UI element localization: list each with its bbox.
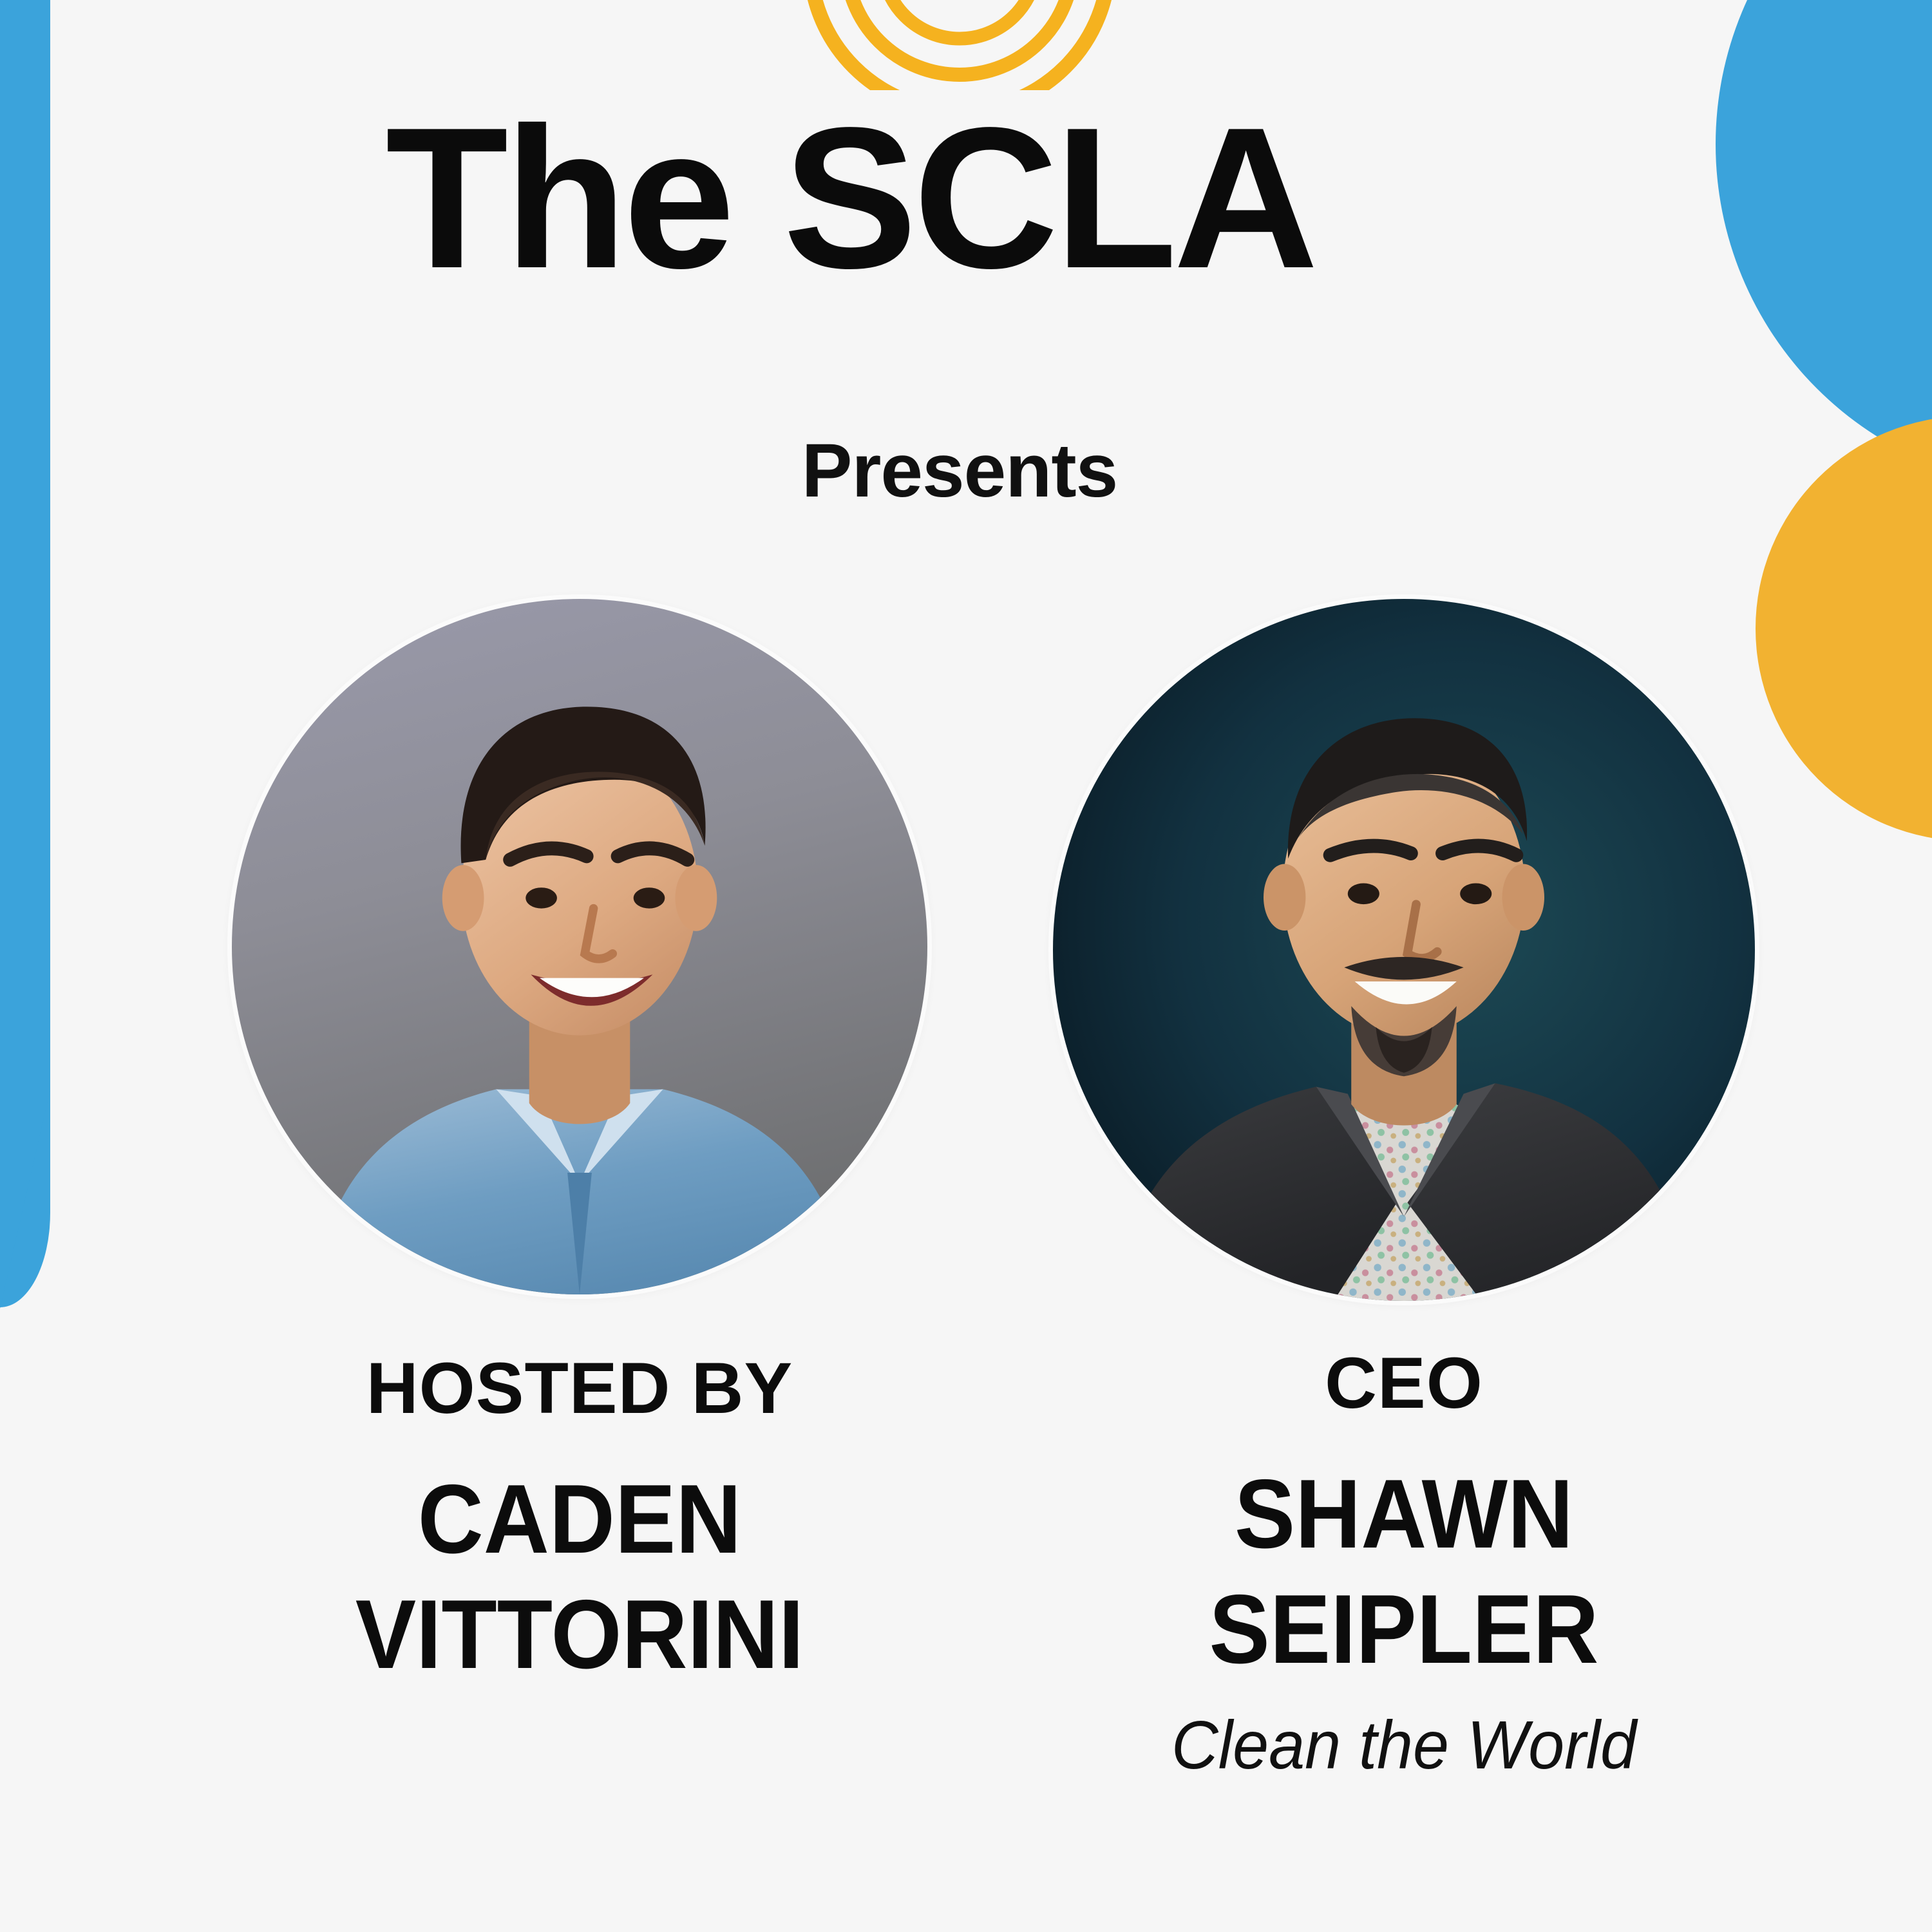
avatar-shawn-seipler (1053, 599, 1755, 1301)
speaker-card-shawn-seipler: CEO SHAWN SEIPLER Clean the World (1037, 599, 1771, 1779)
speaker-first-name-right: SHAWN (1063, 1457, 1745, 1572)
speaker-first-name-left: CADEN (238, 1462, 921, 1577)
speaker-list: HOSTED BY CADEN VITTORINI (0, 0, 1932, 1932)
avatar-caden-vittorini (232, 599, 927, 1294)
headshot-illustration-left (232, 599, 927, 1294)
headshot-illustration-right (1053, 599, 1755, 1301)
event-poster: The SCLA Presents (0, 0, 1932, 1932)
speaker-last-name-right: SEIPLER (1063, 1572, 1745, 1687)
speaker-organization-right: Clean the World (1056, 1711, 1753, 1779)
speaker-role-left: HOSTED BY (213, 1352, 947, 1425)
speaker-role-right: CEO (1037, 1347, 1771, 1419)
speaker-last-name-left: VITTORINI (238, 1577, 921, 1692)
speaker-card-caden-vittorini: HOSTED BY CADEN VITTORINI (213, 599, 947, 1693)
